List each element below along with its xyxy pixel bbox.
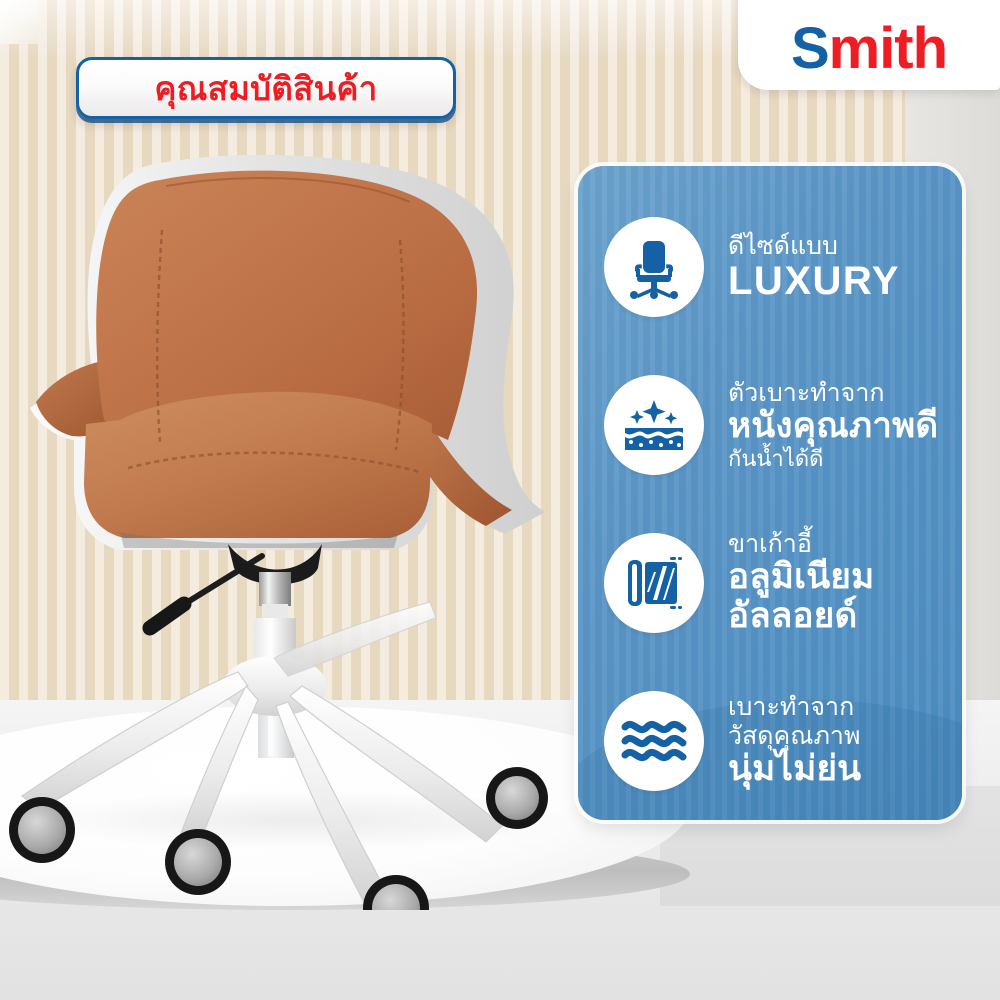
office-chair-icon bbox=[604, 217, 704, 317]
chair-seat bbox=[84, 392, 432, 538]
waves-icon bbox=[604, 691, 704, 791]
title-badge-label: คุณสมบัติสินค้า bbox=[154, 72, 377, 105]
aluminum-sheet-icon bbox=[604, 533, 704, 633]
feature-item-aluminum: ขาเก้าอี้ อลูมิเนียม อัลลอยด์ bbox=[578, 504, 962, 662]
feature-line: นุ่มไม่ย่น bbox=[728, 750, 861, 789]
chair-casters bbox=[9, 767, 548, 910]
product-feature-banner: คุณสมบัติสินค้า Smith bbox=[0, 0, 1000, 1000]
feature-text-soft: เบาะทำจาก วัสดุคุณภาพ นุ่มไม่ย่น bbox=[728, 693, 861, 788]
title-badge: คุณสมบัติสินค้า bbox=[76, 57, 456, 119]
brand-logo[interactable]: Smith bbox=[738, 0, 1000, 90]
feature-line: ตัวเบาะทำจาก bbox=[728, 379, 938, 407]
feature-text-luxury: ดีไซด์แบบ LUXURY bbox=[728, 232, 900, 302]
feature-panel: ดีไซด์แบบ LUXURY bbox=[578, 166, 962, 820]
feature-line: เบาะทำจาก bbox=[728, 693, 861, 721]
feature-line: หนังคุณภาพดี bbox=[728, 407, 938, 446]
feature-line: LUXURY bbox=[728, 260, 900, 302]
feature-text-aluminum: ขาเก้าอี้ อลูมิเนียม อัลลอยด์ bbox=[728, 530, 874, 636]
feature-line: ขาเก้าอี้ bbox=[728, 530, 874, 558]
feature-item-leather: ตัวเบาะทำจาก หนังคุณภาพดี กันน้ำได้ดี bbox=[578, 346, 962, 504]
feature-line: อลูมิเนียม bbox=[728, 558, 874, 597]
feature-line: กันน้ำได้ดี bbox=[728, 446, 938, 471]
feature-list: ดีไซด์แบบ LUXURY bbox=[578, 166, 962, 820]
feature-item-soft: เบาะทำจาก วัสดุคุณภาพ นุ่มไม่ย่น bbox=[578, 662, 962, 820]
brand-logo-s: S bbox=[791, 16, 829, 81]
leather-cushion-icon bbox=[604, 375, 704, 475]
feature-line: อัลลอยด์ bbox=[728, 597, 874, 636]
chair-gas-cylinder-chrome bbox=[259, 572, 291, 606]
wall-corner-highlight bbox=[0, 0, 38, 44]
feature-text-leather: ตัวเบาะทำจาก หนังคุณภาพดี กันน้ำได้ดี bbox=[728, 379, 938, 471]
chair-height-lever-grip[interactable] bbox=[150, 604, 184, 628]
feature-line: วัสดุคุณภาพ bbox=[728, 722, 861, 750]
brand-logo-text: Smith bbox=[791, 20, 947, 78]
office-chair-product-image bbox=[0, 120, 600, 910]
feature-item-luxury: ดีไซด์แบบ LUXURY bbox=[578, 188, 962, 346]
feature-line: ดีไซด์แบบ bbox=[728, 232, 900, 260]
brand-logo-mith: mith bbox=[829, 16, 947, 81]
